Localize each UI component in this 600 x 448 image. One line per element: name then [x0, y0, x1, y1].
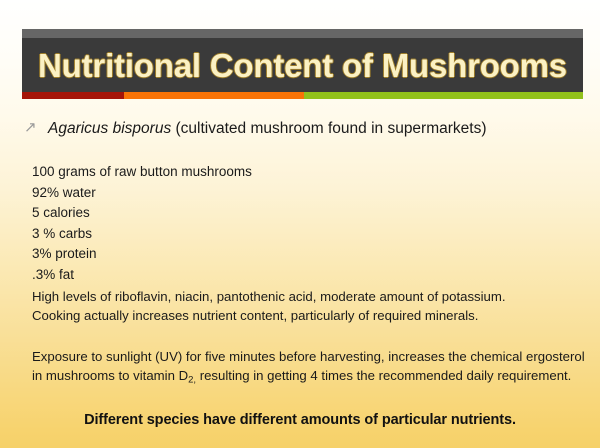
closing-statement: Different species have different amounts…: [0, 412, 600, 428]
list-item: 100 grams of raw button mushrooms: [32, 162, 252, 183]
stripe-segment-orange: [124, 92, 304, 99]
species-name: Agaricus bisporus: [48, 120, 171, 137]
nutrition-facts-list: 100 grams of raw button mushrooms 92% wa…: [32, 162, 252, 285]
list-item: .3% fat: [32, 265, 252, 286]
page-title: Nutritional Content of Mushrooms: [38, 49, 567, 82]
species-description: (cultivated mushroom found in supermarke…: [171, 120, 486, 137]
slide: Nutritional Content of Mushrooms ↗ Agari…: [0, 0, 600, 448]
title-bar: Nutritional Content of Mushrooms: [22, 38, 583, 92]
list-item: 3% protein: [32, 244, 252, 265]
accent-stripe: [22, 92, 583, 99]
title-top-strip: [22, 29, 583, 38]
stripe-segment-red: [22, 92, 124, 99]
list-item: 3 % carbs: [32, 224, 252, 245]
paragraph-line: Cooking actually increases nutrient cont…: [32, 307, 592, 326]
vitamin-d-subscript: 2,: [188, 374, 196, 385]
north-east-arrow-icon: ↗: [24, 120, 48, 135]
title-block: Nutritional Content of Mushrooms: [22, 29, 583, 99]
stripe-segment-green: [304, 92, 583, 99]
species-bullet-row: ↗ Agaricus bisporus (cultivated mushroom…: [24, 120, 594, 139]
sunlight-paragraph: Exposure to sunlight (UV) for five minut…: [32, 348, 592, 387]
sunlight-text-after: resulting in getting 4 times the recomme…: [196, 368, 571, 383]
nutrients-paragraph: High levels of riboflavin, niacin, panto…: [32, 288, 592, 325]
paragraph-line: Exposure to sunlight (UV) for five minut…: [32, 348, 592, 387]
list-item: 5 calories: [32, 203, 252, 224]
paragraph-line: High levels of riboflavin, niacin, panto…: [32, 288, 592, 307]
list-item: 92% water: [32, 183, 252, 204]
species-line: Agaricus bisporus (cultivated mushroom f…: [48, 120, 487, 139]
